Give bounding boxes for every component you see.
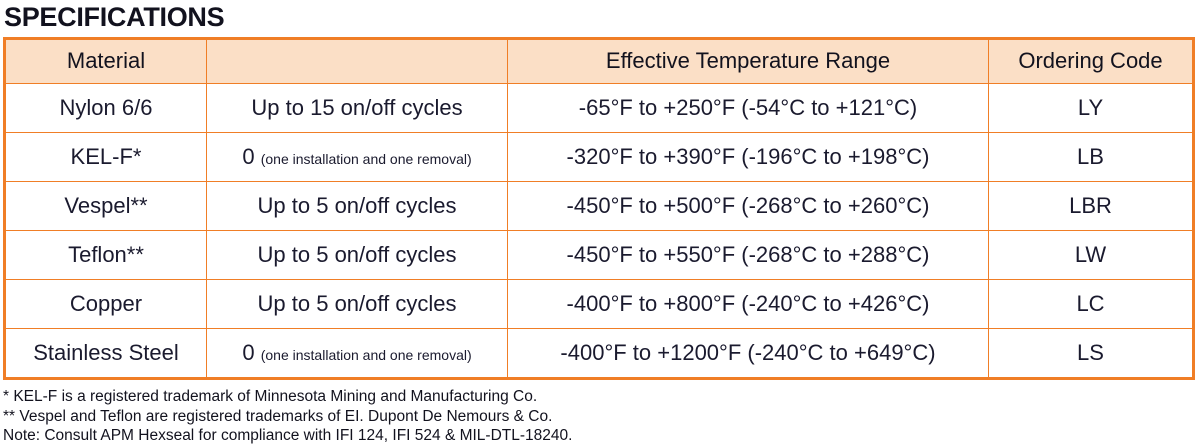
cycles-count: 0 [242,144,254,169]
cell-ordering-code: LB [989,132,1194,181]
cell-temperature: -450°F to +500°F (-268°C to +260°C) [508,181,989,230]
cycles-note: (one installation and one removal) [261,347,472,363]
cell-temperature: -400°F to +1200°F (-240°C to +649°C) [508,328,989,378]
cell-temperature: -320°F to +390°F (-196°C to +198°C) [508,132,989,181]
cell-cycles: Up to 5 on/off cycles [207,230,508,279]
table-header: Material Effective Temperature Range Ord… [5,38,1194,83]
cell-cycles: Up to 5 on/off cycles [207,181,508,230]
cell-cycles: Up to 15 on/off cycles [207,83,508,132]
specifications-page: SPECIFICATIONS Material Effective Temper… [0,0,1195,441]
cycles-text: Up to 5 on/off cycles [258,193,457,218]
cycles-count: 0 [242,340,254,365]
cycles-text: Up to 5 on/off cycles [258,242,457,267]
table-row: KEL-F* 0 (one installation and one remov… [5,132,1194,181]
cell-material: KEL-F* [5,132,207,181]
table-body: Nylon 6/6 Up to 15 on/off cycles -65°F t… [5,83,1194,378]
cell-ordering-code: LW [989,230,1194,279]
table-row: Teflon** Up to 5 on/off cycles -450°F to… [5,230,1194,279]
column-header-temperature: Effective Temperature Range [508,38,989,83]
column-header-cycles [207,38,508,83]
cell-ordering-code: LS [989,328,1194,378]
footnote-kel-f: * KEL-F is a registered trademark of Min… [3,387,1195,407]
table-row: Stainless Steel 0 (one installation and … [5,328,1194,378]
cycles-text: Up to 15 on/off cycles [251,95,462,120]
cell-temperature: -450°F to +550°F (-268°C to +288°C) [508,230,989,279]
column-header-ordering-code: Ordering Code [989,38,1194,83]
table-row: Copper Up to 5 on/off cycles -400°F to +… [5,279,1194,328]
cell-cycles: 0 (one installation and one removal) [207,132,508,181]
table-row: Vespel** Up to 5 on/off cycles -450°F to… [5,181,1194,230]
cell-cycles: Up to 5 on/off cycles [207,279,508,328]
cell-temperature: -65°F to +250°F (-54°C to +121°C) [508,83,989,132]
cycles-note: (one installation and one removal) [261,151,472,167]
cell-ordering-code: LBR [989,181,1194,230]
column-header-material: Material [5,38,207,83]
table-header-row: Material Effective Temperature Range Ord… [5,38,1194,83]
cell-material: Copper [5,279,207,328]
cell-temperature: -400°F to +800°F (-240°C to +426°C) [508,279,989,328]
page-title: SPECIFICATIONS [0,0,1195,37]
specifications-table: Material Effective Temperature Range Ord… [3,37,1195,380]
footnote-vespel-teflon: ** Vespel and Teflon are registered trad… [3,407,1195,427]
cell-material: Vespel** [5,181,207,230]
footnotes: * KEL-F is a registered trademark of Min… [0,380,1195,446]
cell-ordering-code: LY [989,83,1194,132]
table-row: Nylon 6/6 Up to 15 on/off cycles -65°F t… [5,83,1194,132]
cell-material: Nylon 6/6 [5,83,207,132]
cycles-text: Up to 5 on/off cycles [258,291,457,316]
cell-ordering-code: LC [989,279,1194,328]
cell-material: Teflon** [5,230,207,279]
footnote-compliance-note: Note: Consult APM Hexseal for compliance… [3,426,1195,446]
cell-material: Stainless Steel [5,328,207,378]
cell-cycles: 0 (one installation and one removal) [207,328,508,378]
